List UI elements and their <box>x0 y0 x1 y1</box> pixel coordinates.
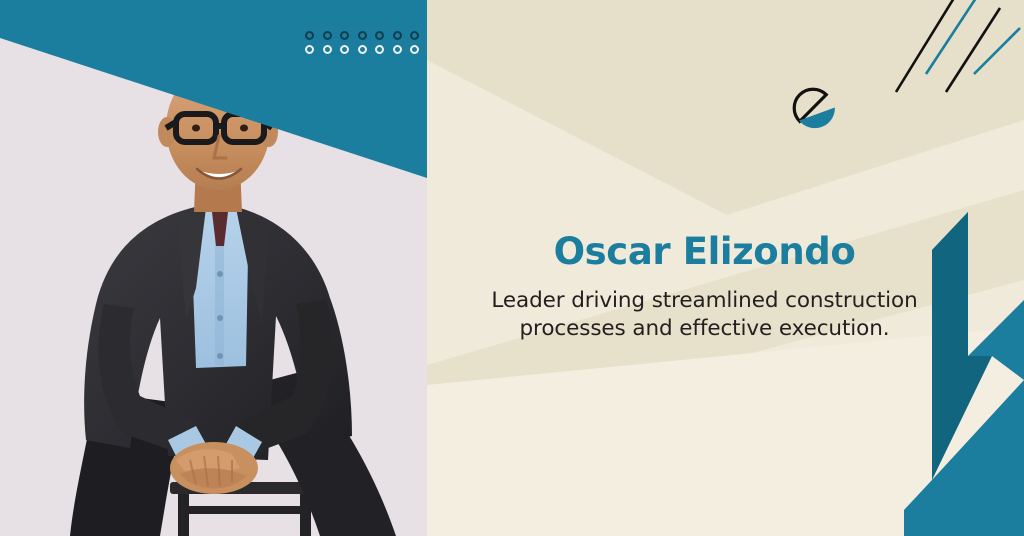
dot <box>393 45 402 54</box>
dot <box>375 45 384 54</box>
dot <box>305 45 314 54</box>
clasped-hands <box>170 442 258 494</box>
tagline-line-2: processes and effective execution. <box>520 316 890 341</box>
dot <box>410 31 419 40</box>
text-block: Oscar Elizondo Leader driving streamline… <box>427 232 982 344</box>
speaker-banner: Oscar Elizondo Leader driving streamline… <box>0 0 1024 536</box>
dot <box>323 45 332 54</box>
photo-panel <box>0 0 427 536</box>
diagonal-line-black-2 <box>946 8 1000 92</box>
dot <box>323 31 332 40</box>
dot <box>305 31 314 40</box>
dot <box>393 31 402 40</box>
dot <box>410 45 419 54</box>
dot <box>358 31 367 40</box>
page-title: Oscar Elizondo <box>427 232 982 273</box>
dot <box>340 45 349 54</box>
logo-solid-half-circle <box>799 108 839 134</box>
tagline-line-1: Leader driving streamlined construction <box>491 288 917 313</box>
diagonal-line-teal-1 <box>926 0 976 74</box>
diagonal-lines-decor <box>894 0 1024 95</box>
dots-row-bottom <box>305 45 419 54</box>
dots-row-top <box>305 31 419 40</box>
dot <box>340 31 349 40</box>
half-circle-logo <box>786 82 842 142</box>
dot <box>375 31 384 40</box>
dot <box>358 45 367 54</box>
tagline: Leader driving streamlined construction … <box>427 287 982 344</box>
diagonal-line-teal-2 <box>974 28 1020 74</box>
